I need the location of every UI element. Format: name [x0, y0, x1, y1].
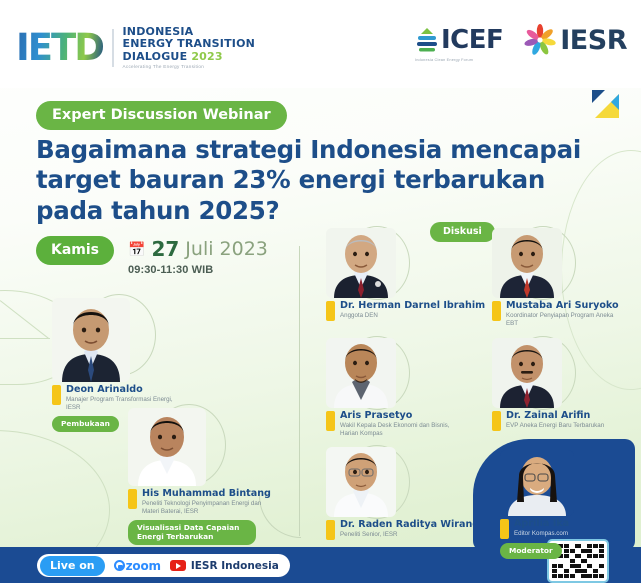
speaker-photo — [492, 228, 562, 298]
speaker-name: Dr. Herman Darnel Ibrahim — [340, 300, 485, 311]
speaker-accent-bar — [326, 520, 335, 540]
corner-triangle-decoration — [589, 88, 623, 122]
speaker-info: Aris Prasetyo Wakil Kepala Desk Ekonomi … — [326, 410, 460, 438]
ietd-year: 2023 — [191, 50, 222, 63]
speaker-text: Aprilia Ika Editor Kompas.com — [514, 518, 569, 539]
speaker-name: His Muhammad Bintang — [142, 488, 271, 499]
speaker-card-his-muhammad-bintang: His Muhammad Bintang Peneliti Teknologi … — [128, 408, 271, 545]
speaker-portrait-bintang — [128, 408, 206, 486]
webinar-poster: IETD INDONESIA ENERGY TRANSITION DIALOGU… — [0, 0, 641, 583]
speaker-photo — [500, 450, 574, 516]
speaker-role: Wakil Kepala Desk Ekonomi dan Bisnis, Ha… — [340, 422, 460, 438]
expert-discussion-badge: Expert Discussion Webinar — [36, 101, 287, 130]
speaker-accent-bar — [52, 385, 61, 405]
speaker-accent-bar — [492, 301, 501, 321]
speaker-portrait-mustaba — [492, 228, 562, 298]
ietd-tagline: Accelerating The Energy Transition — [123, 64, 256, 69]
speaker-info: His Muhammad Bintang Peneliti Teknologi … — [128, 488, 271, 516]
speaker-info: Dr. Zainal Arifin EVP Aneka Energi Baru … — [492, 410, 604, 431]
speaker-accent-bar — [492, 411, 501, 431]
speaker-portrait-deon — [52, 298, 130, 382]
speaker-portrait-aris — [326, 338, 396, 408]
speaker-role: Editor Kompas.com — [514, 530, 569, 538]
speaker-card-herman-darnel-ibrahim: Dr. Herman Darnel Ibrahim Anggota DEN — [326, 228, 485, 321]
live-on-pill: Live on zoom IESR Indonesia — [37, 554, 290, 577]
icef-icon-svg — [415, 26, 439, 54]
ietd-logo: IETD INDONESIA ENERGY TRANSITION DIALOGU… — [16, 26, 255, 70]
speaker-role: EVP Aneka Energi Baru Terbarukan — [506, 422, 604, 430]
speaker-name: Mustaba Ari Suryoko — [506, 300, 626, 311]
youtube-play-icon — [170, 560, 186, 571]
icef-leaf-icon — [415, 26, 439, 54]
speaker-portrait-raden — [326, 447, 396, 517]
partner-logos: ICEF Indonesia Clean Energy Forum — [415, 24, 627, 56]
speaker-photo — [492, 338, 562, 408]
ietd-logo-mark: IETD — [16, 29, 103, 66]
page-title: Bagaimana strategi Indonesia mencapai ta… — [36, 135, 596, 226]
header-bar: IETD INDONESIA ENERGY TRANSITION DIALOGU… — [0, 0, 641, 88]
speaker-name: Aprilia Ika — [514, 518, 569, 529]
event-datetime: 📅 27 Juli 2023 09:30-11:30 WIB — [128, 236, 268, 276]
speaker-accent-bar — [326, 301, 335, 321]
speaker-text: Dr. Zainal Arifin EVP Aneka Energi Baru … — [506, 410, 604, 431]
speaker-info: Mustaba Ari Suryoko Koordinator Penyiapa… — [492, 300, 626, 328]
speaker-badge-wrapper: Visualisasi Data Capaian Energi Terbaruk… — [128, 516, 271, 546]
icef-tagline: Indonesia Clean Energy Forum — [415, 58, 473, 62]
speaker-role: Koordinator Penyiapan Program Aneka EBT — [506, 312, 626, 328]
speaker-name: Aris Prasetyo — [340, 410, 460, 421]
speaker-name: Dr. Zainal Arifin — [506, 410, 604, 421]
speaker-photo — [326, 338, 396, 408]
live-on-label: Live on — [40, 556, 105, 576]
speaker-text: Aris Prasetyo Wakil Kepala Desk Ekonomi … — [340, 410, 460, 438]
section-divider — [299, 246, 300, 536]
corner-triangle-svg — [589, 88, 623, 122]
ietd-line-3: DIALOGUE 2023 — [123, 51, 256, 63]
zoom-logo[interactable]: zoom — [114, 559, 161, 573]
icef-text: ICEF — [441, 25, 503, 55]
speaker-role: Peneliti Senior, IESR — [340, 531, 460, 539]
youtube-channel-label: IESR Indonesia — [191, 560, 279, 572]
moderator-badge: Moderator — [500, 543, 562, 559]
speaker-badge-wrapper: Moderator — [500, 539, 574, 559]
speaker-portrait-aprilia — [500, 450, 574, 516]
youtube-channel[interactable]: IESR Indonesia — [170, 560, 279, 572]
event-date-line: 📅 27 Juli 2023 — [128, 237, 268, 261]
speaker-portrait-zainal — [492, 338, 562, 408]
speaker-text: Dr. Herman Darnel Ibrahim Anggota DEN — [340, 300, 485, 321]
speaker-card-aprilia-ika: Aprilia Ika Editor Kompas.com Moderator — [500, 450, 574, 559]
iesr-logo: IESR — [523, 24, 627, 56]
speaker-text: Mustaba Ari Suryoko Koordinator Penyiapa… — [506, 300, 626, 328]
speaker-accent-bar — [500, 519, 509, 539]
speaker-photo — [128, 408, 206, 486]
speaker-role: Peneliti Teknologi Penyimpanan Energi da… — [142, 500, 262, 516]
speaker-text: His Muhammad Bintang Peneliti Teknologi … — [142, 488, 271, 516]
event-date-rest: Juli 2023 — [185, 238, 268, 260]
ietd-line-3-text: DIALOGUE — [123, 50, 188, 63]
event-date-number: 27 — [151, 237, 179, 261]
logo-divider — [112, 29, 114, 67]
speaker-role-badge: Pembukaan — [52, 416, 119, 432]
icef-logo: ICEF Indonesia Clean Energy Forum — [415, 25, 503, 55]
topic-badge-wrapper: Expert Discussion Webinar — [36, 101, 287, 130]
speaker-info: Aprilia Ika Editor Kompas.com — [500, 518, 574, 539]
ietd-logo-wordmark: INDONESIA ENERGY TRANSITION DIALOGUE 202… — [123, 26, 256, 70]
decorative-line — [0, 338, 50, 339]
speaker-card-zainal-arifin: Dr. Zainal Arifin EVP Aneka Energi Baru … — [492, 338, 604, 431]
speaker-card-mustaba-ari-suryoko: Mustaba Ari Suryoko Koordinator Penyiapa… — [492, 228, 626, 328]
speaker-info: Dr. Herman Darnel Ibrahim Anggota DEN — [326, 300, 485, 321]
decorative-line — [0, 300, 49, 339]
calendar-icon: 📅 — [128, 242, 145, 256]
iesr-text: IESR — [560, 25, 627, 56]
speaker-photo — [326, 447, 396, 517]
speaker-accent-bar — [326, 411, 335, 431]
event-date-block: Kamis 📅 27 Juli 2023 09:30-11:30 WIB — [36, 236, 268, 276]
zoom-camera-icon — [114, 560, 125, 571]
speaker-portrait-herman — [326, 228, 396, 298]
speaker-role-badge: Visualisasi Data Capaian Energi Terbaruk… — [128, 520, 256, 546]
event-day-badge: Kamis — [36, 236, 114, 265]
speaker-card-aris-prasetyo: Aris Prasetyo Wakil Kepala Desk Ekonomi … — [326, 338, 460, 438]
speaker-accent-bar — [128, 489, 137, 509]
speaker-photo — [52, 298, 130, 382]
speaker-role: Anggota DEN — [340, 312, 460, 320]
iesr-pinwheel-icon — [523, 24, 557, 56]
speaker-photo — [326, 228, 396, 298]
speaker-name: Deon Arinaldo — [66, 384, 186, 395]
event-time: 09:30-11:30 WIB — [128, 264, 268, 276]
zoom-label: zoom — [126, 559, 161, 573]
